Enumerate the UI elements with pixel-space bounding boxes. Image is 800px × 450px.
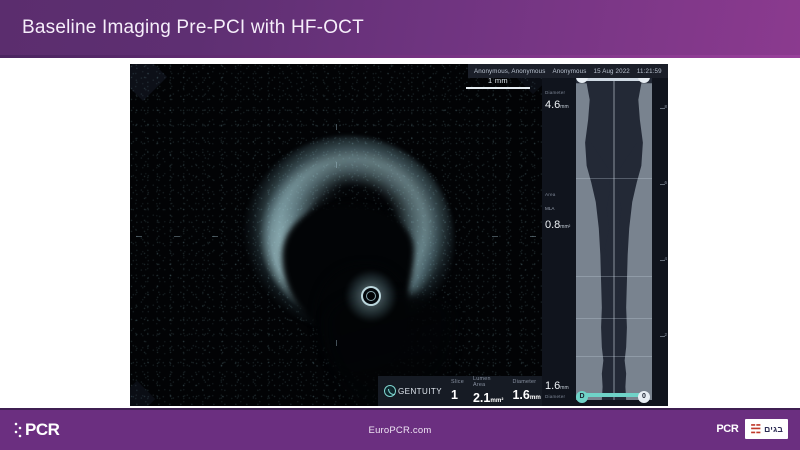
lmode-proximal-diameter-unit: mm: [560, 104, 568, 110]
scale-bar-line: [466, 87, 530, 89]
scale-tick: [530, 236, 536, 237]
measurement-bar: GENTUITY Slice 1 Lumen Area 2.1mm² Diame…: [378, 376, 542, 406]
oct-cross-section-image[interactable]: 1 mm: [130, 64, 542, 406]
lmode-mla-unit: mm²: [560, 224, 570, 230]
scale-tick: [136, 236, 142, 237]
scale-tick: [212, 236, 218, 237]
lmode-distal-diameter-unit: mm: [560, 385, 568, 391]
lmode-proximal-diameter: Diameter 4.6mm: [545, 90, 577, 113]
slide-footer: PCR EuroPCR.com PCR ☵ בגים: [0, 410, 800, 450]
slide-body: 1 mm Anonymous, Anonymous Anonymous 15 A…: [0, 58, 800, 410]
patient-name: Anonymous, Anonymous: [474, 68, 545, 75]
lmode-mla-sublabel: MLA: [545, 206, 554, 211]
catheter-core: [366, 291, 376, 301]
lmode-distal-diameter-value: 1.6: [545, 380, 560, 392]
footer-website: EuroPCR.com: [0, 425, 800, 436]
study-date: 15 Aug 2022: [593, 68, 629, 75]
measurement-lumen-area-unit: mm²: [490, 397, 503, 404]
lmode-value-gutter: Diameter 4.6mm Area MLA 0.8mm² 1.6mm Dia…: [542, 64, 576, 406]
scale-tick: [336, 124, 337, 130]
measurement-diameter: Diameter 1.6mm: [512, 379, 540, 404]
measurement-diameter-value: 1.6: [512, 388, 529, 402]
measurement-diameter-label: Diameter: [512, 379, 540, 385]
lmode-scan-image[interactable]: [576, 70, 652, 400]
footer-top-rule: [0, 408, 800, 410]
patient-info-bar: Anonymous, Anonymous Anonymous 15 Aug 20…: [468, 64, 668, 78]
measurement-diameter-unit: mm: [530, 394, 541, 401]
lmode-distal-diameter-label: Diameter: [545, 394, 577, 399]
gentuity-mark-icon: [384, 385, 396, 397]
lmode-mla: Area MLA 0.8mm²: [545, 192, 577, 233]
scale-tick: [336, 340, 337, 346]
distal-marker-bottom[interactable]: D: [576, 391, 588, 403]
rail-number: 8: [665, 104, 667, 109]
page-title: Baseline Imaging Pre-PCI with HF-OCT: [0, 17, 364, 39]
lmode-depth-scale: 8 6 4 2: [654, 70, 668, 400]
lmode-proximal-diameter-label: Diameter: [545, 90, 577, 95]
patient-id: Anonymous: [552, 68, 586, 75]
scale-tick: [492, 236, 498, 237]
measurement-lumen-area: Lumen Area 2.1mm²: [473, 376, 503, 407]
lmode-distal-diameter: 1.6mm Diameter: [545, 376, 577, 399]
rail-number: 6: [665, 180, 667, 185]
measurement-slice: Slice 1: [451, 379, 464, 404]
lmode-proximal-diameter-value: 4.6: [545, 99, 560, 111]
lmode-mla-value: 0.8: [545, 219, 560, 231]
gentuity-logo: GENTUITY: [384, 385, 442, 397]
lmode-gridline: [576, 356, 652, 357]
end-marker[interactable]: 0: [638, 391, 650, 403]
rail-number: 4: [665, 256, 667, 261]
slide-header: Baseline Imaging Pre-PCI with HF-OCT: [0, 0, 800, 55]
study-time: 11:21:59: [637, 68, 662, 75]
measurement-slice-value: 1: [451, 388, 458, 402]
lmode-gridline: [576, 178, 652, 179]
lmode-mla-label: Area: [545, 192, 577, 197]
measurement-lumen-area-value: 2.1: [473, 391, 490, 405]
lmode-gridline: [576, 318, 652, 319]
sponsor-logo: ☵ בגים: [745, 419, 788, 439]
scale-tick: [174, 236, 180, 237]
sponsor-mark-icon: ☵: [750, 423, 761, 435]
gentuity-wordmark: GENTUITY: [398, 387, 442, 396]
lmode-panel: Diameter 4.6mm Area MLA 0.8mm² 1.6mm Dia…: [542, 64, 668, 406]
scale-tick: [336, 162, 337, 168]
oct-viewer: 1 mm Anonymous, Anonymous Anonymous 15 A…: [130, 64, 668, 406]
measurement-slice-label: Slice: [451, 379, 464, 385]
lmode-centerline: [614, 70, 615, 400]
sponsor-logo-text: בגים: [764, 425, 783, 434]
footer-logos: PCR ☵ בגים: [716, 419, 788, 439]
rail-number: 2: [665, 332, 667, 337]
pcr-small-logo: PCR: [716, 423, 738, 435]
measurement-lumen-area-label: Lumen Area: [473, 376, 503, 388]
lmode-gridline: [576, 276, 652, 277]
